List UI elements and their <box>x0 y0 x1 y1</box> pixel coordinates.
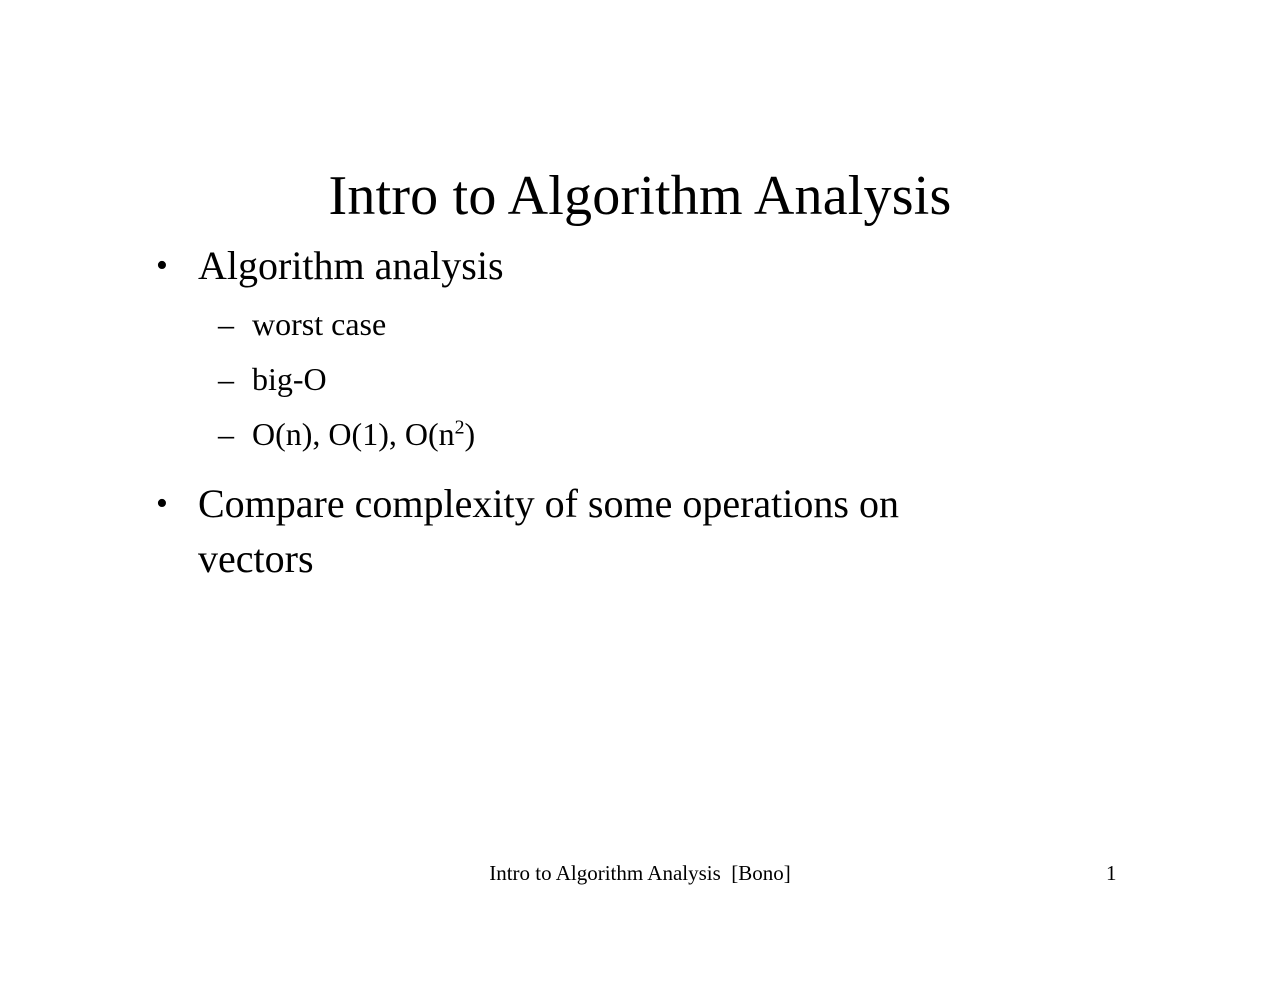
list-item: – O(n), O(1), O(n2) <box>150 407 1010 462</box>
list-item-label: worst case <box>252 306 386 342</box>
page-title: Intro to Algorithm Analysis <box>0 164 1280 228</box>
list-item-label: big-O <box>252 361 327 397</box>
list-item: – big-O <box>150 352 1010 407</box>
complexity-prefix: O(n), O(1), O(n <box>252 416 455 452</box>
list-item-label: O(n), O(1), O(n2) <box>252 416 475 452</box>
list-item: • Compare complexity of some operations … <box>150 476 1010 586</box>
bullet-dot-icon: • <box>156 476 168 531</box>
list-item-label: Algorithm analysis <box>198 243 504 288</box>
list-spacer <box>150 468 1010 476</box>
slide-body: • Algorithm analysis – worst case – big-… <box>150 238 1010 586</box>
sub-list: – worst case – big-O – O(n), O(1), O(n2) <box>150 297 1010 462</box>
bullet-dot-icon: • <box>156 238 168 293</box>
complexity-suffix: ) <box>465 416 476 452</box>
slide-canvas: Intro to Algorithm Analysis • Algorithm … <box>0 0 1280 989</box>
footer-label: Intro to Algorithm Analysis [Bono] <box>0 858 1280 888</box>
page-number: 1 <box>1106 858 1117 888</box>
slide-footer: Intro to Algorithm Analysis [Bono] 1 <box>0 858 1280 892</box>
bullet-dash-icon: – <box>218 407 234 462</box>
bullet-dash-icon: – <box>218 297 234 352</box>
list-item-label: Compare complexity of some operations on… <box>198 481 899 581</box>
list-item: • Algorithm analysis <box>150 238 1010 293</box>
list-item: – worst case <box>150 297 1010 352</box>
bullet-dash-icon: – <box>218 352 234 407</box>
superscript-exponent: 2 <box>455 416 465 438</box>
